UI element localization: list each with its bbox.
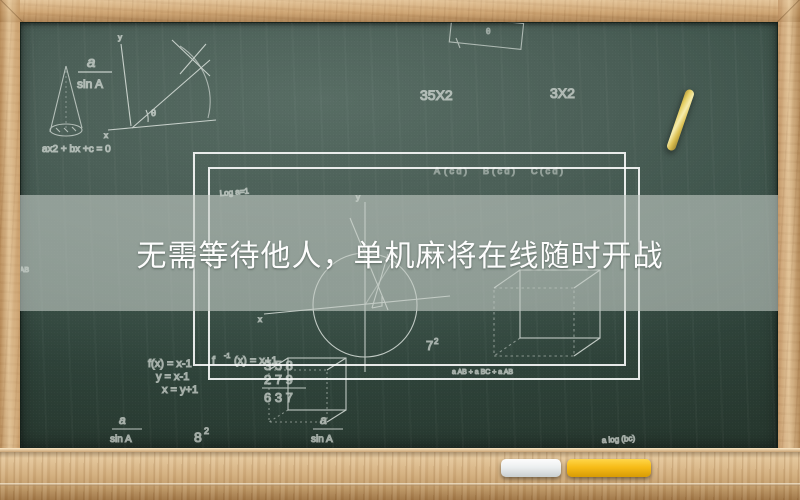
white-eraser bbox=[501, 459, 561, 477]
chalk-ledge bbox=[0, 448, 800, 500]
ledge-drop-shadow bbox=[0, 452, 800, 458]
frame-top-bevel bbox=[0, 0, 800, 22]
ledge-groove bbox=[0, 483, 800, 486]
chalkboard-banner: a sin A y x θ ax2 + bx +c = 0 bbox=[0, 0, 800, 500]
yellow-eraser bbox=[567, 459, 651, 477]
page-title: 无需等待他人，单机麻将在线随时开战 bbox=[0, 195, 800, 311]
